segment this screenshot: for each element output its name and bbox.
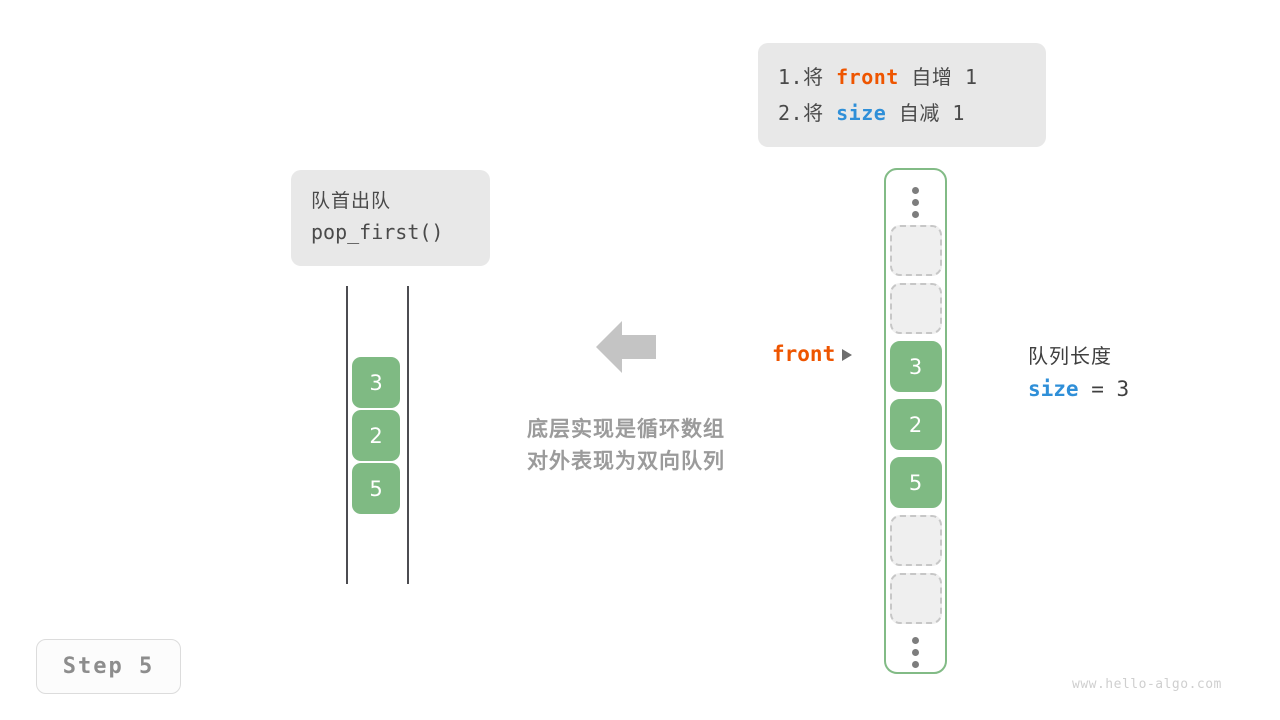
array-slot-empty	[890, 283, 942, 334]
array-slot-filled: 3	[890, 341, 942, 392]
queue-size-expression: size = 3	[1028, 371, 1129, 407]
front-pointer-label: front	[772, 342, 835, 366]
instruction-line-1: 1.将 front 自增 1	[778, 59, 1024, 95]
instruction-1-keyword-front: front	[836, 65, 899, 89]
array-slot-filled: 2	[890, 399, 942, 450]
circular-array-container: 3 2 5	[884, 168, 947, 674]
instruction-line-2: 2.将 size 自减 1	[778, 95, 1024, 131]
operation-callout: 队首出队 pop_first()	[291, 170, 490, 266]
instruction-1-text-before: 将	[803, 65, 836, 89]
right-triangle-icon	[842, 349, 852, 361]
instruction-2-text-after: 自减 1	[886, 101, 965, 125]
implementation-caption: 底层实现是循环数组 对外表现为双向队列	[501, 413, 751, 477]
size-value: 3	[1117, 377, 1130, 401]
deque-cell-list: 3 2 5	[352, 357, 400, 516]
instruction-2-keyword-size: size	[836, 101, 886, 125]
array-slot-empty	[890, 515, 942, 566]
watermark: www.hello-algo.com	[1072, 677, 1222, 692]
array-slot-filled: 5	[890, 457, 942, 508]
caption-line-1: 底层实现是循环数组	[501, 413, 751, 445]
array-slot-empty	[890, 573, 942, 624]
deque-abstract-view: 3 2 5	[344, 286, 410, 584]
circular-array-slot-list: 3 2 5	[890, 225, 942, 631]
instruction-2-text-before: 将	[803, 101, 836, 125]
deque-rail-left	[346, 286, 348, 584]
caption-line-2: 对外表现为双向队列	[501, 445, 751, 477]
operation-title: 队首出队	[311, 186, 470, 216]
queue-size-title: 队列长度	[1028, 341, 1129, 371]
instruction-1-index: 1.	[778, 65, 803, 89]
array-slot-empty	[890, 225, 942, 276]
left-arrow-icon	[596, 320, 656, 374]
deque-rail-right	[407, 286, 409, 584]
step-badge: Step 5	[36, 639, 181, 694]
vertical-ellipsis-icon-bottom	[912, 637, 919, 668]
deque-cell: 3	[352, 357, 400, 408]
front-pointer-annotation: front	[772, 342, 852, 366]
deque-cell: 5	[352, 463, 400, 514]
queue-size-annotation: 队列长度 size = 3	[1028, 341, 1129, 407]
deque-cell: 2	[352, 410, 400, 461]
instruction-callout: 1.将 front 自增 1 2.将 size 自减 1	[758, 43, 1046, 147]
operation-method-name: pop_first()	[311, 216, 470, 248]
instruction-1-text-after: 自增 1	[899, 65, 978, 89]
size-variable-name: size	[1028, 377, 1079, 401]
vertical-ellipsis-icon-top	[912, 187, 919, 218]
instruction-2-index: 2.	[778, 101, 803, 125]
size-equals-sign: =	[1079, 377, 1117, 401]
